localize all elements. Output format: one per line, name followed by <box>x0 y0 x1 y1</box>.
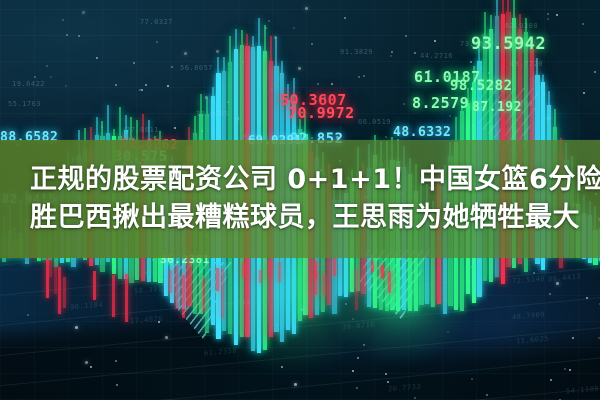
candlestick-wick <box>467 88 468 103</box>
candlestick-drop-wick <box>388 271 391 293</box>
candlestick-drop-wick <box>169 270 172 293</box>
candlestick-wick <box>206 98 207 114</box>
candlestick-drop-wick <box>242 263 245 277</box>
candlestick-wick <box>137 120 138 140</box>
headline-line-2: 胜巴西揪出最糟糕球员，王思雨为她牺牲最大 <box>30 199 600 237</box>
candlestick-wick <box>114 129 115 136</box>
candlestick-wick <box>537 58 538 75</box>
candlestick-wick <box>264 25 265 50</box>
candlestick-wick <box>502 0 503 14</box>
candlestick-wick <box>247 34 248 46</box>
candlestick-wick <box>102 121 103 137</box>
candlestick-drop-wick <box>323 274 326 296</box>
candlestick-wick <box>473 66 474 82</box>
candlestick-drop-wick <box>58 267 61 314</box>
candlestick-wick <box>218 57 219 72</box>
candlestick-wick <box>288 84 289 101</box>
candlestick-wick <box>543 75 544 82</box>
candlestick-drop-wick <box>355 269 358 310</box>
candlestick-wick <box>491 15 492 29</box>
candlestick-wick <box>235 29 236 49</box>
candlestick-drop-wick <box>125 274 128 322</box>
candlestick-wick <box>520 14 521 30</box>
candlestick-wick <box>525 18 526 32</box>
candlestick-wick <box>299 119 300 129</box>
candlestick-wick <box>531 40 532 49</box>
candlestick-drop-wick <box>112 275 115 317</box>
candlestick-wick <box>131 117 132 138</box>
candlestick-wick <box>259 18 260 45</box>
candlestick-wick <box>212 87 213 96</box>
candlestick-drop-wick <box>202 278 205 312</box>
candlestick-drop-wick <box>268 261 271 276</box>
candlestick-drop-wick <box>216 268 219 291</box>
candlestick-drop-wick <box>278 262 281 282</box>
candlestick-wick <box>241 30 242 45</box>
candlestick-drop-wick <box>333 258 336 276</box>
candlestick-wick <box>119 107 120 136</box>
candlestick-drop-wick <box>49 259 52 277</box>
candlestick-wick <box>554 109 555 127</box>
candlestick-wick <box>108 105 109 133</box>
thumbnail-canvas: 93.594261.018798.52828.257987.19250.3607… <box>0 0 600 400</box>
candlestick-wick <box>496 0 497 16</box>
headline-line-1: 正规的股票配资公司 0+1+1！中国女篮6分险 <box>30 161 600 199</box>
candlestick-wick <box>201 94 202 115</box>
candlestick-wick <box>508 0 509 12</box>
candlestick-wick <box>479 45 480 61</box>
candlestick-wick <box>485 12 486 37</box>
candlestick-wick <box>456 117 457 142</box>
candlestick-wick <box>253 36 254 47</box>
candlestick-wick <box>293 78 294 102</box>
candlestick-drop-wick <box>381 265 384 278</box>
candlestick-wick <box>549 91 550 105</box>
candlestick-drop-wick <box>371 261 374 272</box>
candlestick-wick <box>276 37 277 66</box>
candlestick-wick <box>514 0 515 18</box>
candlestick-drop-wick <box>221 269 224 318</box>
candlestick-wick <box>96 117 97 135</box>
candlestick-wick <box>148 120 149 141</box>
candlestick-wick <box>195 116 196 133</box>
candlestick-drop-wick <box>46 259 49 298</box>
candlestick-drop-wick <box>175 265 178 309</box>
candlestick-wick <box>230 36 231 62</box>
candlestick-wick <box>125 115 126 130</box>
candlestick-drop-wick <box>182 275 185 318</box>
candlestick-drop-wick <box>93 271 96 300</box>
candlestick-wick <box>270 36 271 61</box>
candlestick-wick <box>305 110 306 134</box>
candlestick-drop-wick <box>314 274 317 295</box>
candlestick-drop-wick <box>259 270 262 283</box>
candlestick-wick <box>282 61 283 73</box>
headline-text-block: 正规的股票配资公司 0+1+1！中国女篮6分险 胜巴西揪出最糟糕球员，王思雨为她… <box>0 140 600 258</box>
candlestick-wick <box>224 57 225 70</box>
candlestick-drop-wick <box>54 265 57 294</box>
candlestick-drop-wick <box>63 277 66 308</box>
